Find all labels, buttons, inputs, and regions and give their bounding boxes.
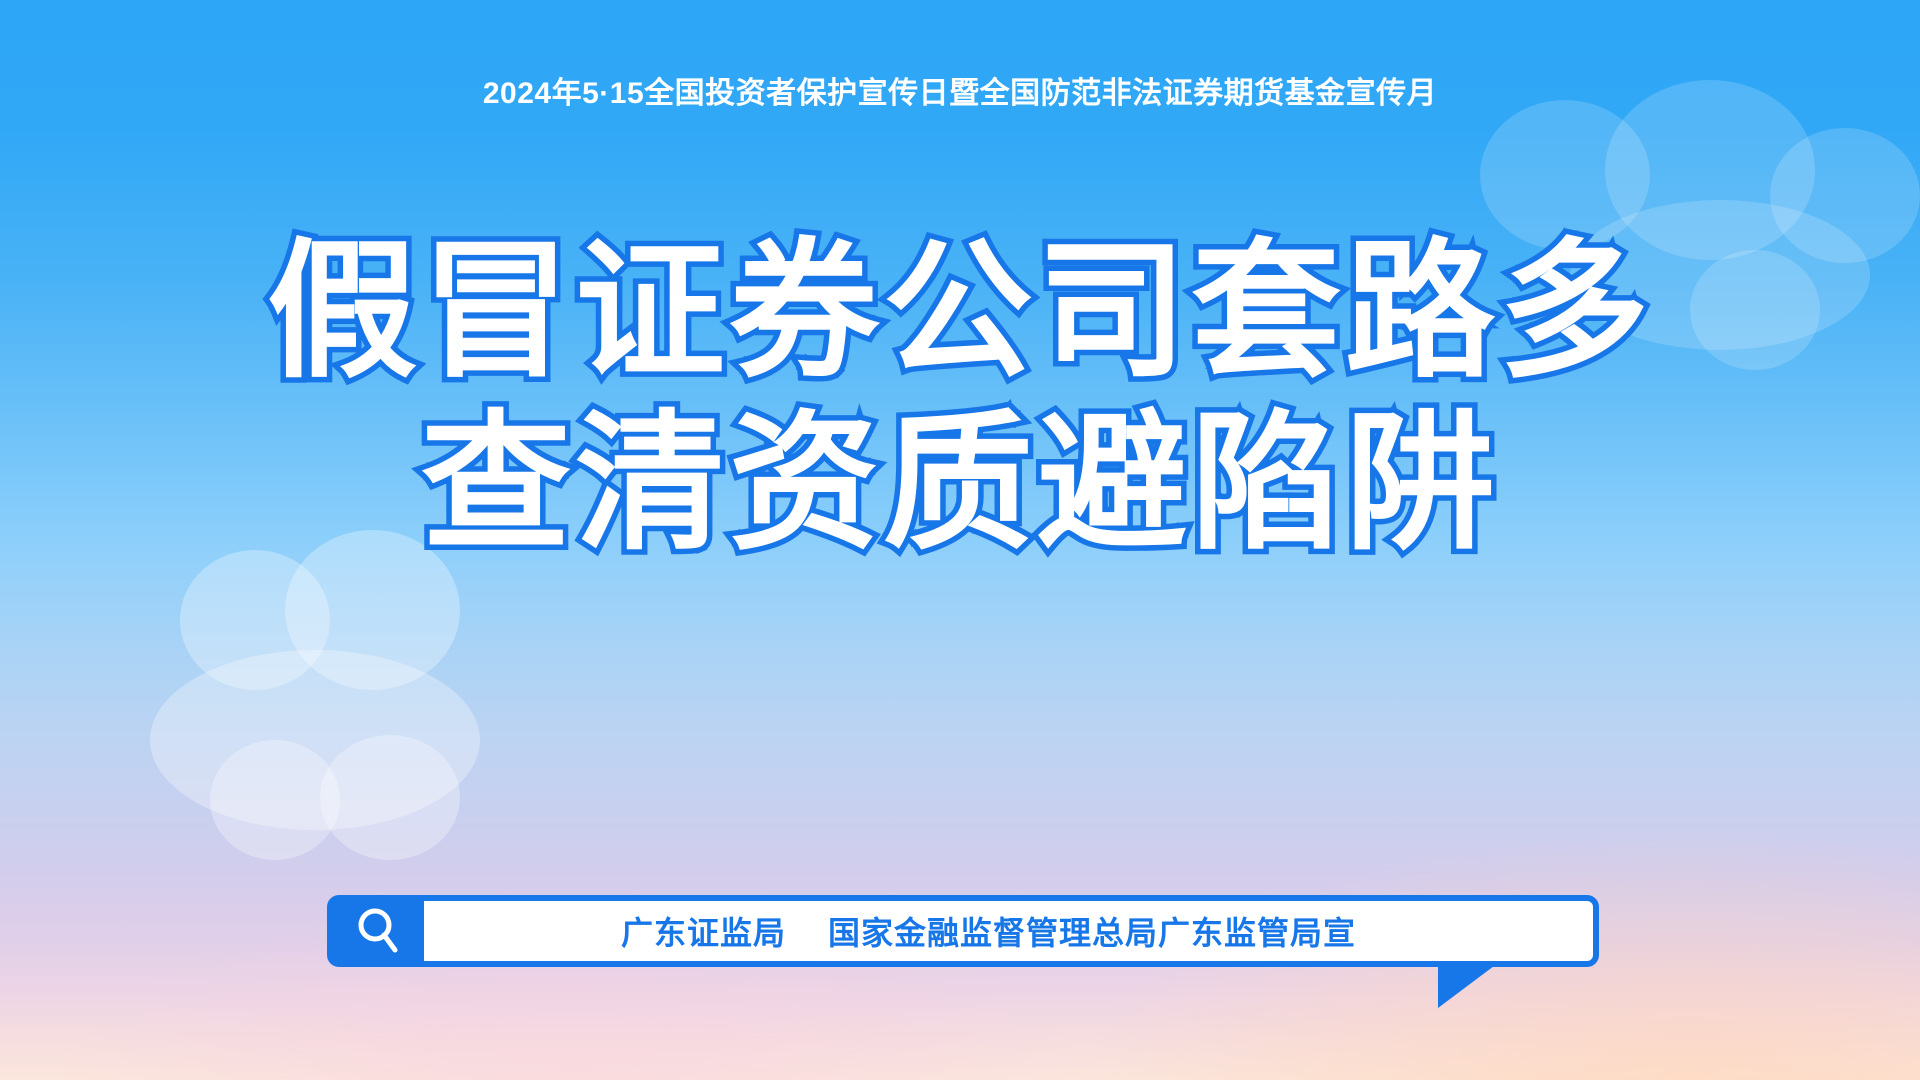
decorative-cloud-middle-left [150,540,510,900]
title-line-1: 假冒证券公司套路多 [0,236,1920,386]
search-icon [332,901,424,961]
main-title: 假冒证券公司套路多 查清资质避陷阱 [0,236,1920,558]
speech-bubble-tail [1438,966,1494,1008]
attribution-bar: 广东证监局国家金融监督管理总局广东监管局宣 [327,895,1599,967]
poster-canvas: 2024年5·15全国投资者保护宣传日暨全国防范非法证券期货基金宣传月 假冒证券… [0,0,1920,1080]
organization-guangdong-csrc: 广东证监局 [621,915,786,951]
organization-nfra-guangdong: 国家金融监督管理总局广东监管局宣 [828,915,1356,951]
attribution-text: 广东证监局国家金融监督管理总局广东监管局宣 [424,908,1593,954]
title-line-2: 查清资质避陷阱 [0,408,1920,558]
campaign-header-text: 2024年5·15全国投资者保护宣传日暨全国防范非法证券期货基金宣传月 [0,68,1920,112]
